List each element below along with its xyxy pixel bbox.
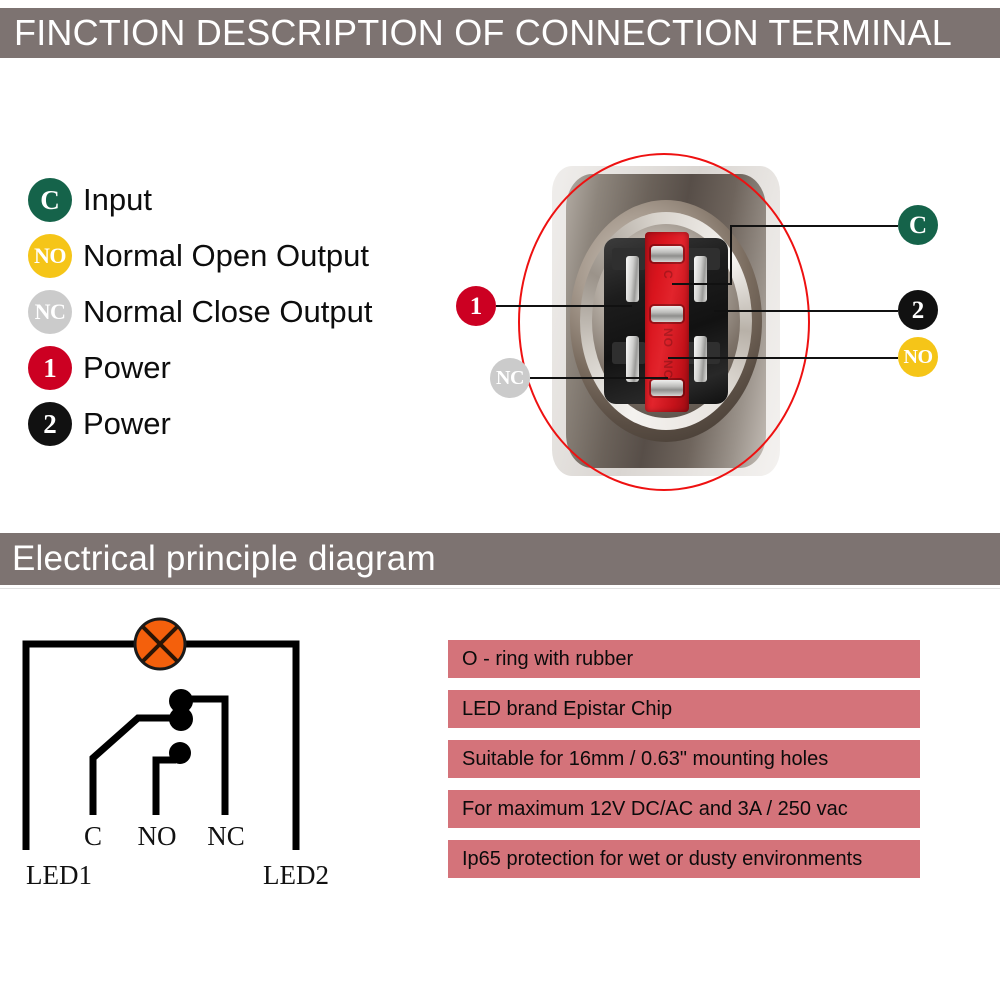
terminal-legend: C Input NO Normal Open Output NC Normal … xyxy=(28,172,428,452)
product-photo-panel: C NO NC 1 NC C 2 NO xyxy=(440,140,1000,510)
callout-badge-c: C xyxy=(898,205,938,245)
terminal-tab-left-upper xyxy=(626,256,639,302)
wire-no-branch xyxy=(156,760,176,815)
leader-line-1 xyxy=(496,305,632,307)
terminal-tab-left-lower xyxy=(626,336,639,382)
leader-line-no xyxy=(668,357,898,359)
legend-label-power-2: Power xyxy=(83,406,171,442)
feature-item: O - ring with rubber xyxy=(448,640,920,678)
legend-item-power-2: 2 Power xyxy=(28,396,428,452)
schematic-label-nc: NC xyxy=(207,821,245,851)
switch-photo-image: C NO NC xyxy=(542,160,790,482)
callout-badge-1: 1 xyxy=(456,286,496,326)
feature-text: Ip65 protection for wet or dusty environ… xyxy=(448,848,862,871)
feature-item: LED brand Epistar Chip xyxy=(448,690,920,728)
feature-item: For maximum 12V DC/AC and 3A / 250 vac xyxy=(448,790,920,828)
legend-item-c: C Input xyxy=(28,172,428,228)
emboss-label-c: C xyxy=(661,270,675,280)
leader-line-nc xyxy=(530,377,668,379)
electrical-schematic: C NO NC LED1 LED2 xyxy=(0,600,400,920)
legend-label-power-1: Power xyxy=(83,350,171,386)
schematic-label-led1: LED1 xyxy=(26,860,92,890)
page-title: FINCTION DESCRIPTION OF CONNECTION TERMI… xyxy=(0,12,952,54)
legend-badge-1: 1 xyxy=(28,346,72,390)
callout-badge-nc: NC xyxy=(490,358,530,398)
section-header-connection-terminal: FINCTION DESCRIPTION OF CONNECTION TERMI… xyxy=(0,8,1000,58)
legend-label-c: Input xyxy=(83,182,152,218)
feature-text: Suitable for 16mm / 0.63" mounting holes xyxy=(448,748,828,771)
schematic-label-led2: LED2 xyxy=(263,860,329,890)
callout-badge-2: 2 xyxy=(898,290,938,330)
wire-c-pole-arm xyxy=(93,718,176,815)
legend-badge-c: C xyxy=(28,178,72,222)
terminal-screw xyxy=(651,380,683,396)
legend-label-nc: Normal Close Output xyxy=(83,294,372,330)
legend-badge-no: NO xyxy=(28,234,72,278)
feature-list: O - ring with rubber LED brand Epistar C… xyxy=(448,640,920,890)
red-terminal-block: C NO NC xyxy=(645,232,689,412)
feature-text: LED brand Epistar Chip xyxy=(448,698,672,721)
callout-badge-no: NO xyxy=(898,337,938,377)
legend-item-no: NO Normal Open Output xyxy=(28,228,428,284)
leader-line-2 xyxy=(714,310,898,312)
terminal-screw xyxy=(651,246,683,262)
terminal-tab-right-lower xyxy=(694,336,707,382)
schematic-label-c: C xyxy=(84,821,102,851)
wire-led2-rail xyxy=(182,644,296,850)
terminal-tab-right-upper xyxy=(694,256,707,302)
feature-text: For maximum 12V DC/AC and 3A / 250 vac xyxy=(448,798,848,821)
leader-line-c-vertical xyxy=(730,225,732,285)
legend-item-nc: NC Normal Close Output xyxy=(28,284,428,340)
legend-item-power-1: 1 Power xyxy=(28,340,428,396)
contact-nc-lower xyxy=(169,707,193,731)
feature-item: Ip65 protection for wet or dusty environ… xyxy=(448,840,920,878)
leader-line-c-stub xyxy=(672,283,732,285)
section-header-electrical-diagram: Electrical principle diagram xyxy=(0,533,1000,585)
feature-text: O - ring with rubber xyxy=(448,648,633,671)
wire-led1-rail xyxy=(26,644,139,850)
legend-label-no: Normal Open Output xyxy=(83,238,369,274)
leader-line-c xyxy=(730,225,898,227)
emboss-label-no: NO xyxy=(661,328,675,348)
contact-no xyxy=(169,742,191,764)
feature-item: Suitable for 16mm / 0.63" mounting holes xyxy=(448,740,920,778)
schematic-label-no: NO xyxy=(138,821,177,851)
section-divider xyxy=(0,588,1000,589)
legend-badge-2: 2 xyxy=(28,402,72,446)
legend-badge-nc: NC xyxy=(28,290,72,334)
section-title-electrical: Electrical principle diagram xyxy=(0,539,436,579)
terminal-screw xyxy=(651,306,683,322)
